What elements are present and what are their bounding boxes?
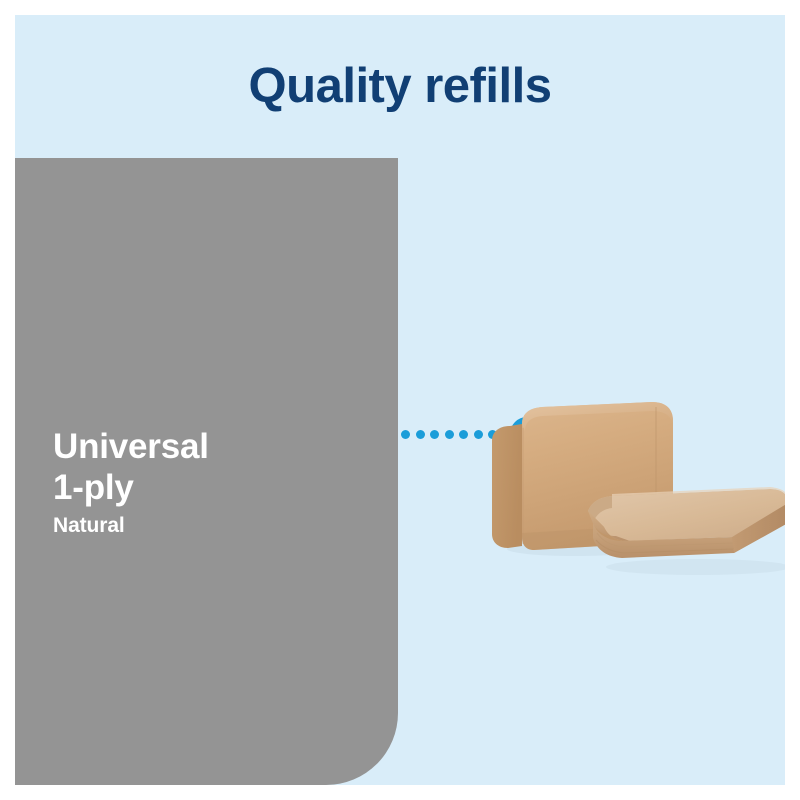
flat-stack-shadow [606,559,785,575]
product-info-text-block: Universal 1-ply Natural [53,426,383,538]
callout-dot [459,430,468,439]
product-variant-label: Natural [53,513,383,538]
flat-folded-towel-stack [588,487,785,558]
product-card-canvas: Quality refills Universal 1-ply Natural [15,15,785,785]
callout-dot [445,430,454,439]
callout-dot [416,430,425,439]
product-photo [470,395,785,595]
callout-dot [401,430,410,439]
callout-dot [430,430,439,439]
paper-towel-illustration [470,395,785,595]
page-title: Quality refills [15,57,785,115]
product-info-panel: Universal 1-ply Natural [15,158,398,785]
product-name-line-1: Universal [53,426,383,467]
product-name-line-2: 1-ply [53,467,383,508]
screenshot-root: Quality refills Universal 1-ply Natural [0,0,800,800]
